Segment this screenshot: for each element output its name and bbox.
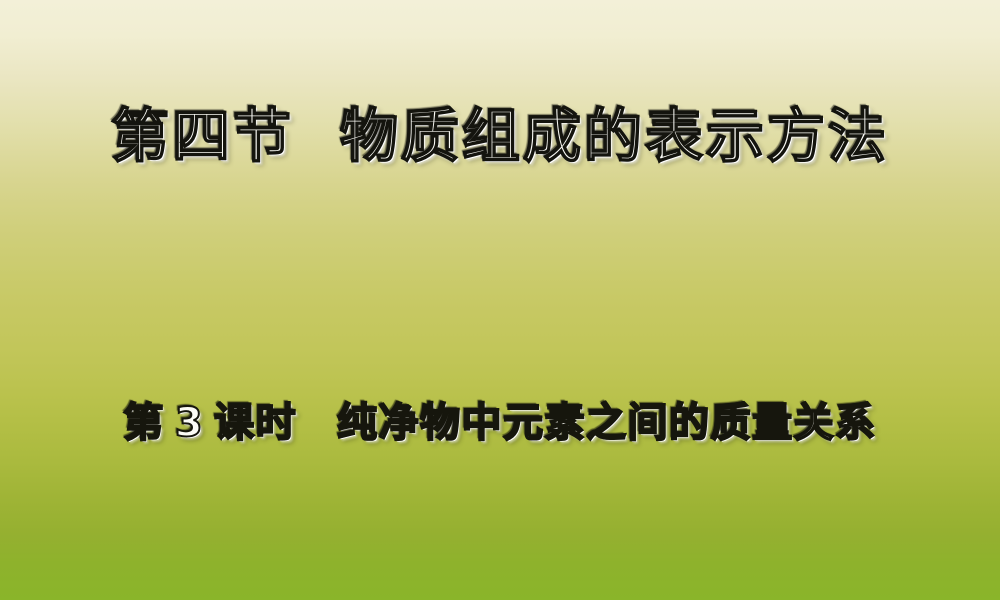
title-slide: 第四节物质组成的表示方法 第3课时纯净物中元素之间的质量关系 [0,0,1000,600]
title-section-label: 第四节 [111,100,294,174]
title-section-topic: 物质组成的表示方法 [340,100,889,174]
subtitle-lesson-topic: 纯净物中元素之间的质量关系 [337,396,877,450]
subtitle-lesson-number: 3 [175,396,204,450]
subtitle-lesson-suffix: 课时 [214,396,297,450]
slide-subtitle: 第3课时纯净物中元素之间的质量关系 [0,396,1000,450]
subtitle-lesson-prefix: 第 [123,396,165,450]
slide-title: 第四节物质组成的表示方法 [0,100,1000,174]
